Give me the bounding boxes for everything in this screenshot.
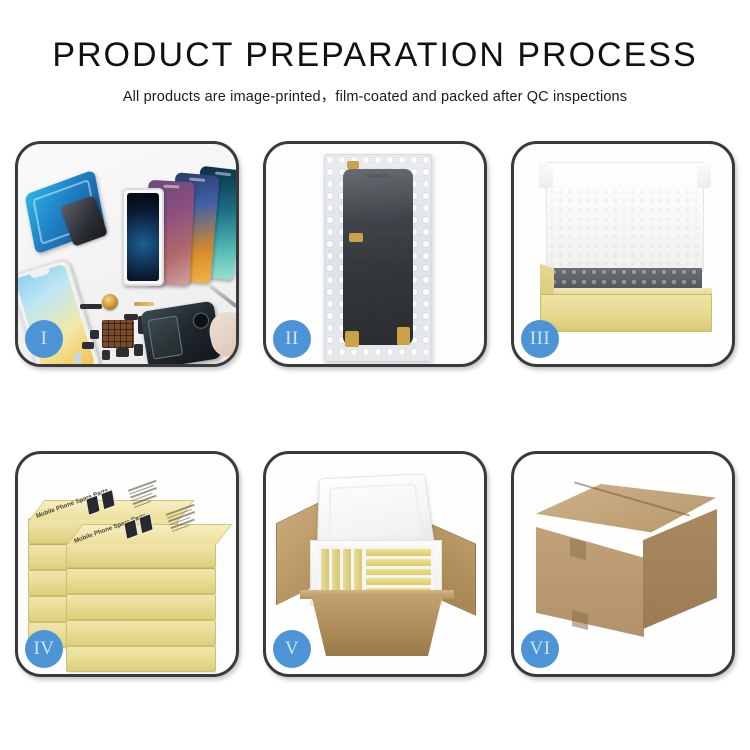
yellow-box: [366, 569, 431, 576]
process-step-1: I: [15, 141, 239, 367]
component-chip-icon: [90, 330, 99, 339]
wrapped-lcd-screen-icon: [343, 169, 413, 345]
step-badge-4: IV: [25, 630, 63, 668]
page-subtitle: All products are image-printed，film-coat…: [0, 85, 750, 106]
yellow-boxes-vertical: [321, 549, 362, 595]
foam-sheet-icon: [548, 188, 702, 270]
sim-tray-icon: [74, 352, 81, 364]
phone-screen-blue-icon: [122, 188, 164, 286]
bubble-wrap-bag-icon: [324, 154, 432, 362]
flex-cable-icon: [134, 302, 154, 306]
component-chip-icon: [82, 342, 94, 349]
product-preparation-infographic: PRODUCT PREPARATION PROCESS All products…: [0, 0, 750, 750]
process-step-6: VI: [511, 451, 735, 677]
camera-module-icon: [116, 348, 129, 357]
retail-box: [66, 646, 216, 672]
process-step-grid: I II: [15, 141, 737, 677]
process-step-4: Mobile Phone Spare Parts Mobile Phone Sp…: [15, 451, 239, 677]
process-step-3: III: [511, 141, 735, 367]
yellow-box: [332, 549, 340, 595]
component-bar-icon: [80, 304, 102, 309]
packing-tape-icon: [570, 538, 586, 560]
retail-box-printed: [66, 542, 216, 568]
flex-cable-icon: [349, 233, 363, 242]
page-title: PRODUCT PREPARATION PROCESS: [0, 38, 750, 74]
copper-coil-icon: [102, 294, 118, 310]
process-step-5: V: [263, 451, 487, 677]
header: PRODUCT PREPARATION PROCESS All products…: [0, 0, 750, 106]
yellow-box-front-icon: [540, 294, 712, 332]
yellow-box: [366, 549, 431, 556]
step-badge-5: V: [273, 630, 311, 668]
yellow-box: [343, 549, 351, 595]
component-chip-icon: [102, 350, 110, 360]
packing-tape-icon: [572, 610, 588, 630]
speaker-icon: [134, 344, 143, 356]
yellow-box: [366, 578, 431, 585]
yellow-box: [321, 549, 329, 595]
carton-body-icon: [302, 594, 452, 656]
step-badge-2: II: [273, 320, 311, 358]
retail-box: [66, 620, 216, 646]
retail-box: [66, 594, 216, 620]
retail-box: [66, 568, 216, 594]
step-badge-3: III: [521, 320, 559, 358]
flex-cable-icon: [347, 161, 359, 169]
component-chip-icon: [124, 314, 138, 320]
flex-cable-icon: [345, 331, 359, 347]
flex-cable-icon: [397, 327, 410, 345]
yellow-box: [354, 549, 362, 595]
step-badge-6: VI: [521, 630, 559, 668]
logic-board-icon: [102, 320, 134, 348]
process-step-2: II: [263, 141, 487, 367]
yellow-boxes-horizontal: [366, 549, 431, 595]
yellow-box: [366, 559, 431, 566]
step-badge-1: I: [25, 320, 63, 358]
carton-front-face-icon: [536, 527, 644, 637]
